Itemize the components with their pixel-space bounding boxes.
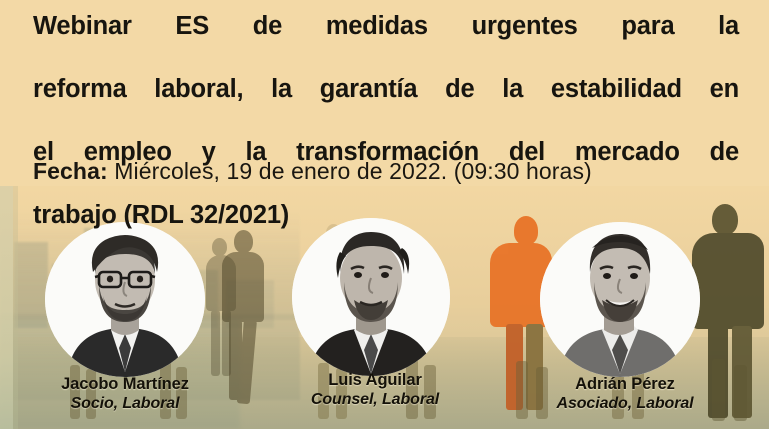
speaker-role-3: Asociado, Laboral <box>508 394 742 413</box>
portrait-jacobo-martinez <box>45 222 205 377</box>
title-line-2: reforma laboral, la garantía de la estab… <box>33 74 739 137</box>
speaker-name-1: Jacobo Martínez <box>10 375 240 394</box>
speaker-photo-1 <box>45 222 205 377</box>
portrait-adrian-perez <box>540 222 700 377</box>
page-title: Webinar ES de medidas urgentes para la r… <box>33 11 739 232</box>
speaker-photo-3 <box>540 222 700 377</box>
speaker-caption-3: Adrián Pérez Asociado, Laboral <box>508 375 742 413</box>
speaker-name-3: Adrián Pérez <box>508 375 742 394</box>
speaker-caption-1: Jacobo Martínez Socio, Laboral <box>10 375 240 413</box>
speaker-name-2: Luis Aguilar <box>258 371 492 390</box>
event-date-label: Fecha: <box>33 158 108 184</box>
title-line-1: Webinar ES de medidas urgentes para la <box>33 11 739 74</box>
event-date-value: Miércoles, 19 de enero de 2022. (09:30 h… <box>114 158 592 184</box>
speaker-caption-2: Luis Aguilar Counsel, Laboral <box>258 371 492 409</box>
portrait-luis-aguilar <box>292 218 450 376</box>
title-line-4: trabajo (RDL 32/2021) <box>33 200 739 232</box>
speaker-photo-2 <box>292 218 450 376</box>
event-date: Fecha: Miércoles, 19 de enero de 2022. (… <box>33 157 592 185</box>
speaker-role-2: Counsel, Laboral <box>258 390 492 409</box>
speaker-role-1: Socio, Laboral <box>10 394 240 413</box>
webinar-poster: Webinar ES de medidas urgentes para la r… <box>0 0 769 429</box>
